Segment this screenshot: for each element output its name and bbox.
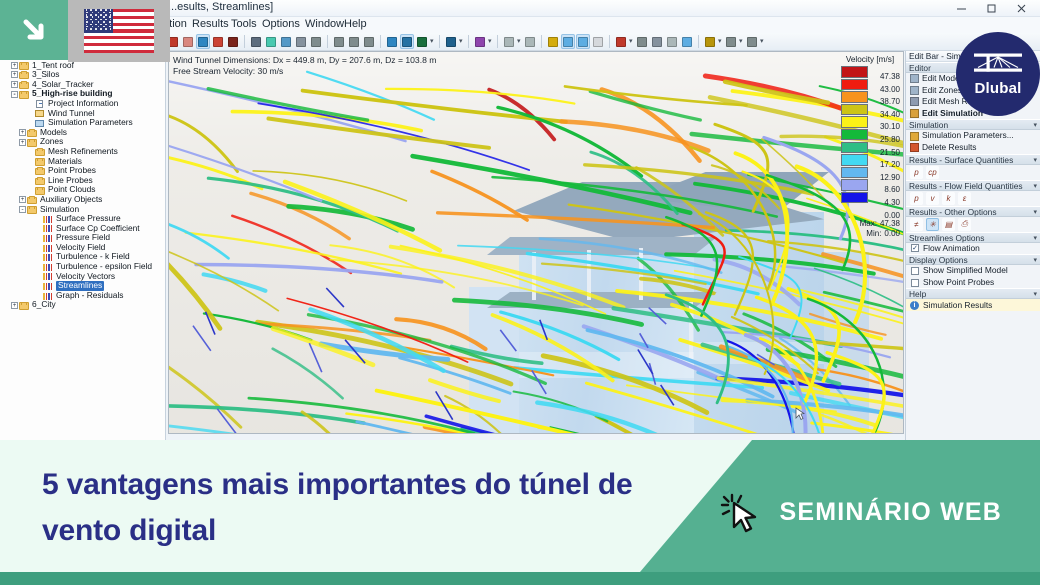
person-zones-icon [910,86,919,95]
checkbox-unchecked-icon[interactable] [911,279,919,287]
legend-row: 38.70 [839,91,901,104]
legend-value: 0.00 [872,211,900,220]
legend-row: 34.40 [839,104,901,117]
animation-play-icon[interactable] [703,34,717,49]
streamline [493,177,777,217]
flag-stripe [84,43,154,46]
isosurface-icon[interactable] [591,34,605,49]
legend-row: 21.50 [839,142,901,155]
show-simplified-model-checkbox[interactable]: Show Simplified Model [906,265,1040,277]
results-colors-icon[interactable] [473,34,487,49]
click-cursor-icon [717,490,761,534]
banner-bottom-bar [0,572,1040,585]
streamline [169,115,237,172]
smooth-shade-icon[interactable] [635,34,649,49]
editbar-section-streamlines-options[interactable]: Streamlines Options▾ [906,232,1040,243]
chevron-down-icon[interactable]: ▾ [1033,155,1037,166]
chevron-down-icon[interactable]: ▾ [629,34,634,49]
simulation-icon [910,109,919,118]
banner-title: 5 vantagens mais importantes do túnel de… [42,462,662,553]
expand-icon[interactable]: + [11,62,18,69]
streamline [386,89,574,104]
editbar-button-label: v [931,194,935,203]
streamline [273,349,343,399]
language-flag-badge [68,0,170,62]
editbar-section-results-surface-quantities[interactable]: Results - Surface Quantities▾ [906,154,1040,165]
flow-animation-checkbox[interactable]: ✓Flow Animation [906,243,1040,255]
simulation-parameters-icon [35,119,46,127]
folder-icon [27,205,38,213]
wind-profile-icon[interactable] [724,34,738,49]
chevron-down-icon[interactable]: ▾ [430,34,435,49]
toolbar-separator [380,35,381,48]
editbar-button-label: k [947,194,951,203]
streamline [208,89,367,120]
streamline [169,139,321,201]
legend-row: 25.80 [839,129,901,142]
menu-item-results[interactable]: Results [192,18,229,30]
streamlines-button[interactable]: ✳ [926,218,939,231]
editbar-button-label: p [914,194,918,203]
expand-icon[interactable]: + [19,139,26,146]
surface-pressure-button[interactable]: p [910,166,923,179]
expand-icon[interactable]: + [11,81,18,88]
editbar-section-display-options[interactable]: Display Options▾ [906,254,1040,265]
view-front-icon[interactable] [264,34,278,49]
zoom-all-icon[interactable] [309,34,323,49]
checkbox-label: Flow Animation [923,243,980,255]
folder-icon [27,196,38,204]
streamline-low-velocity [193,326,211,351]
velocity-vectors-button[interactable]: ≠ [910,218,923,231]
chevron-down-icon[interactable]: ▾ [459,34,464,49]
section-result-icon[interactable] [561,34,575,49]
streamline [169,261,220,329]
folder-icon [19,61,30,69]
banner-label: SEMINÁRIO WEB [779,498,1002,527]
expand-icon[interactable]: + [19,129,26,136]
editbar-section-label: Simulation [909,120,948,130]
result-bars-icon [43,234,54,242]
epsilon-field-button[interactable]: ε [958,192,971,205]
tree-item-mesh-refinements[interactable]: Mesh Refinements [0,147,165,157]
streamline [565,86,747,105]
redo-icon[interactable] [347,34,361,49]
person-model-icon [910,74,919,83]
editbar-item-label: Edit Zones [922,85,962,97]
result-bars-icon [43,282,54,290]
legend-swatch [841,91,868,103]
velocity-field-button[interactable]: v [926,192,939,205]
legend-row: 8.60 [839,179,901,192]
toolbar-separator [439,35,440,48]
legend-row: 0.00 [839,205,901,218]
toolbar-separator [497,35,498,48]
window-controls [946,0,1036,16]
editbar-section-help[interactable]: Help▾ [906,288,1040,299]
editbar-section-simulation[interactable]: Simulation▾ [906,119,1040,130]
editbar-button-label: ⎙ [961,219,967,229]
editbar-button-label: cp [928,168,936,177]
folder-icon [35,148,46,156]
params-icon [910,132,919,141]
folder-icon [35,157,46,165]
render-solid-icon[interactable] [444,34,458,49]
folder-icon [35,177,46,185]
arrow-down-right-icon [17,13,51,47]
probe-point-icon[interactable] [680,34,694,49]
legend-title: Velocity [m/s] [839,55,901,64]
legend-swatch [841,66,868,78]
result-bars-icon [43,224,54,232]
streamline [169,406,364,424]
menu-item-tools[interactable]: Tools [231,18,257,30]
wind-tunnel-icon [35,109,46,117]
info-icon: i [910,301,919,310]
probe-line-icon[interactable] [665,34,679,49]
rotate-view-icon[interactable] [196,34,210,49]
editbar-section-results-other-options[interactable]: Results - Other Options▾ [906,206,1040,217]
tree-item-simulation-parameters[interactable]: Simulation Parameters [0,118,165,128]
legend-minmax: Max:47.38 Min:0.00 [839,219,901,239]
streamline-low-velocity [638,350,653,375]
toolbar-separator [541,35,542,48]
legend-row: 4.30 [839,192,901,205]
model-wire-icon[interactable] [181,34,195,49]
flag-canton [84,9,113,33]
streamline-low-velocity [309,343,322,372]
free-stream-velocity: Free Stream Velocity: 30 m/s [173,66,436,77]
result-bars-icon [43,292,54,300]
select-object-icon[interactable] [400,34,414,49]
editbar-button-row: ≠✳▤⎙ [906,217,1040,232]
zoom-window-icon[interactable] [211,34,225,49]
expand-icon[interactable]: + [11,71,18,78]
streamline [391,247,624,308]
chevron-down-icon[interactable]: ▾ [488,34,493,49]
tree-item-auxiliary-objects[interactable]: +Auxiliary Objects [0,195,165,205]
menu-item-options[interactable]: Options [262,18,300,30]
editbar-item-simulation-parameters-[interactable]: Simulation Parameters... [906,130,1040,142]
editbar-item-label: Delete Results [922,142,976,154]
streamline [675,271,904,340]
folder-icon [27,138,38,146]
folder-icon [35,186,46,194]
editbar-button-label: ▤ [945,220,953,229]
minimize-icon[interactable] [946,0,976,16]
help-link-label: Simulation Results [923,299,992,311]
checkbox-label: Show Simplified Model [923,265,1008,277]
streamline-arrow-icon[interactable] [502,34,516,49]
folder-icon [19,81,30,89]
tree-item-graph-residuals[interactable]: Graph - Residuals [0,291,165,301]
expand-icon[interactable]: + [19,196,26,203]
streamline [169,358,241,427]
tree-item-1-tent-roof[interactable]: +1_Tent roof [0,61,165,71]
wind-tunnel-dimensions: Wind Tunnel Dimensions: Dx = 449.8 m, Dy… [173,55,436,66]
3d-viewport[interactable]: Velocity [m/s] 47.3843.0038.7034.4030.10… [168,51,904,434]
chevron-down-icon[interactable]: ▾ [1033,181,1037,192]
editbar-section-label: Results - Surface Quantities [909,155,1013,165]
streamline [501,312,619,359]
pan-view-icon[interactable] [226,34,240,49]
editbar-section-results-flow-field-quantities[interactable]: Results - Flow Field Quantities▾ [906,180,1040,191]
dlubal-brand-text: Dlubal [974,80,1021,97]
result-bars-icon [43,215,54,223]
legend-swatch [841,192,868,204]
checkbox-label: Show Point Probes [923,277,994,289]
report-button[interactable]: ⎙ [958,218,971,231]
editbar-item-delete-results[interactable]: Delete Results [906,142,1040,154]
delete-results-icon [910,143,919,152]
streamline-wake [767,175,850,270]
chevron-down-icon[interactable]: ▾ [1033,207,1037,218]
box-outline-icon[interactable] [650,34,664,49]
tree-item-label: 6_City [32,300,56,310]
us-flag-icon [84,9,154,53]
result-bars-icon [43,263,54,271]
result-bars-icon [43,244,54,252]
editbar-section-label: Display Options [909,255,968,265]
chevron-down-icon[interactable]: ▾ [1033,289,1037,300]
editbar-item-label: Edit Simulation [922,108,983,120]
flag-marker-icon[interactable] [415,34,429,49]
editbar-section-label: Help [909,289,926,299]
undo-icon[interactable] [362,34,376,49]
legend-min-value: 0.00 [884,229,900,239]
window-title: ...esults, Streamlines] [168,1,273,13]
banner-right-group: SEMINÁRIO WEB [717,490,1002,534]
collapse-icon[interactable]: - [11,91,18,98]
streamline-wake [736,153,788,304]
chevron-down-icon[interactable]: ▾ [517,34,522,49]
chevron-down-icon[interactable]: ▾ [1033,233,1037,244]
restore-icon[interactable] [976,0,1006,16]
checkbox-checked-icon[interactable]: ✓ [911,244,919,252]
folder-icon [27,129,38,137]
menu-item-window[interactable]: Window [305,18,344,30]
toolbar-separator [468,35,469,48]
folder-icon [19,301,30,309]
menu-item-help[interactable]: Help [344,18,367,30]
chevron-down-icon[interactable]: ▾ [1033,255,1037,266]
chevron-down-icon[interactable]: ▾ [718,34,723,49]
editbar-section-label: Results - Flow Field Quantities [909,181,1023,191]
document-icon [35,100,46,108]
viewport-info-text: Wind Tunnel Dimensions: Dx = 449.8 m, Dy… [173,55,436,77]
view-side-icon[interactable] [294,34,308,49]
streamline [208,178,397,231]
legend-swatch [841,179,868,191]
legend-swatch [841,104,868,116]
print-preview-icon[interactable] [385,34,399,49]
editbar-button-label: p [914,168,918,177]
mesh-display-icon[interactable] [614,34,628,49]
surface-result-icon[interactable] [546,34,560,49]
mesh-icon [910,97,919,106]
legend-min-label: Min: [866,229,881,239]
close-icon[interactable] [1006,0,1036,16]
streamline [253,171,406,201]
legend-row: 43.00 [839,79,901,92]
dlubal-logo-badge: Dlubal [956,32,1040,116]
streamline-low-velocity [500,330,516,351]
toolbar-button-row: ▾▾▾▾▾▾▾▾ [166,34,765,49]
show-point-probes-checkbox[interactable]: Show Point Probes [906,277,1040,289]
legend-max-value: 47.38 [880,219,900,229]
view-iso-icon[interactable] [249,34,263,49]
toolbar-separator [327,35,328,48]
editbar-button-row: pvkε [906,191,1040,206]
legend-swatch [841,154,868,166]
arrow-badge [0,0,68,60]
folder-icon [19,71,30,79]
graph-residuals-button[interactable]: ▤ [942,218,955,231]
collapse-icon[interactable]: - [19,206,26,213]
legend-swatch [841,79,868,91]
legend-swatch [841,129,868,141]
streamline-low-velocity [326,288,344,307]
editbar-section-label: Editor [909,63,931,73]
legend-max-label: Max: [860,219,877,229]
editbar-item-label: Simulation Parameters... [922,130,1014,142]
expand-icon[interactable]: + [11,302,18,309]
editbar-section-label: Results - Other Options [909,207,997,217]
streamline [169,424,388,434]
particle-icon[interactable] [523,34,537,49]
legend-swatch [841,142,868,154]
help-simulation-results-link[interactable]: iSimulation Results [906,299,1040,311]
dlubal-logo-mark [972,52,1024,78]
folder-icon [19,90,30,98]
editbar-section-label: Streamlines Options [909,233,984,243]
rwind-application-window: ...esults, Streamlines] Online License R… [0,0,1040,440]
chevron-down-icon[interactable]: ▾ [739,34,744,49]
legend-swatch [841,116,868,128]
surface-cp-button[interactable]: cp [926,166,939,179]
legend-row: 17.20 [839,154,901,167]
folder-icon [35,167,46,175]
chevron-down-icon[interactable]: ▾ [760,34,765,49]
toolbar-separator [609,35,610,48]
flag-stripe [84,36,154,39]
legend-row: 30.10 [839,116,901,129]
tree-item-6-city[interactable]: +6_City [0,300,165,310]
tree-item-label: Graph - Residuals [56,291,124,301]
legend-row: 12.90 [839,167,901,180]
legend-row: 47.38 [839,66,901,79]
result-bars-icon [43,272,54,280]
volume-result-icon[interactable] [576,34,590,49]
streamlines-overlay [169,52,904,434]
flag-stripe [84,50,154,53]
checkbox-unchecked-icon[interactable] [911,267,919,275]
toolbar-separator [698,35,699,48]
legend-swatch [841,167,868,179]
view-top-icon[interactable] [279,34,293,49]
chevron-down-icon[interactable]: ▾ [1033,120,1037,131]
editbar-button-label: ✳ [929,220,936,229]
result-bars-icon [43,253,54,261]
velocity-legend: Velocity [m/s] 47.3843.0038.7034.4030.10… [839,55,901,239]
viewport-cursor-icon [795,407,805,421]
editbar-button-label: ≠ [914,220,918,229]
project-navigator-tree[interactable]: Project Data+1_Tent roof+3_Silos+4_Solar… [0,51,166,440]
promo-banner: 5 vantagens mais importantes do túnel de… [0,440,1040,585]
tree-item-models[interactable]: +Models [0,128,165,138]
zoom-in-icon[interactable] [332,34,346,49]
turbulence-icon[interactable] [745,34,759,49]
k-field-button[interactable]: k [942,192,955,205]
editbar-button-row: pcp [906,165,1040,180]
pressure-field-button[interactable]: p [910,192,923,205]
toolbar-separator [244,35,245,48]
editbar-button-label: ε [963,194,967,203]
